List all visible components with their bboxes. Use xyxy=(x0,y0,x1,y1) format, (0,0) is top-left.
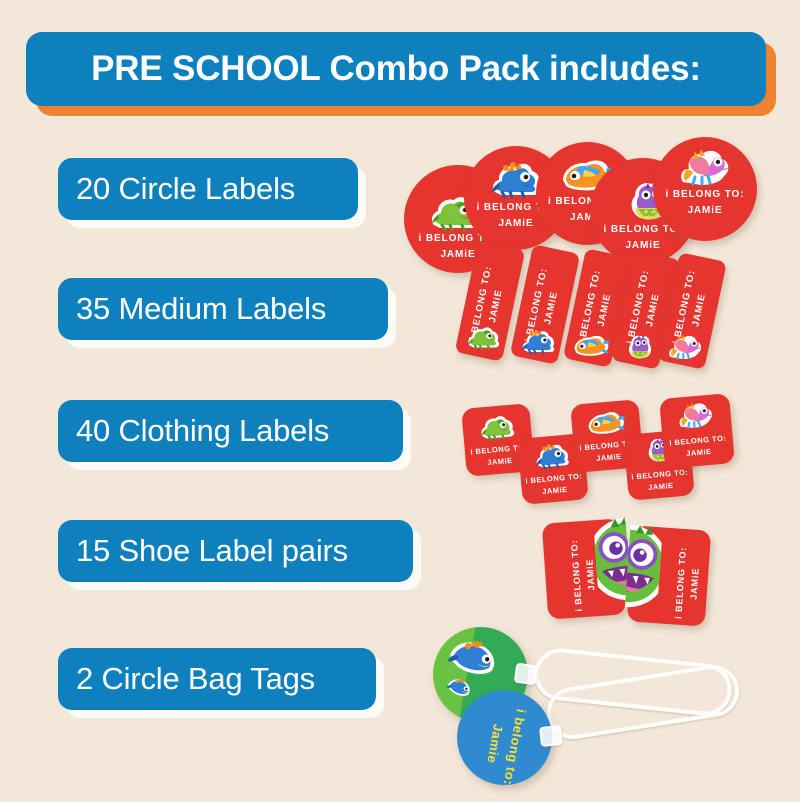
orange-blue-fish-dino-icon xyxy=(584,406,628,438)
list-item-label: 35 Medium Labels xyxy=(58,291,326,327)
circle-label-text: i BELONG TO: JAMiE xyxy=(653,187,757,218)
list-item-label: 20 Circle Labels xyxy=(58,171,295,207)
list-item-shoe-labels: 15 Shoe Label pairs xyxy=(58,520,413,582)
pill-body: 20 Circle Labels xyxy=(58,158,358,220)
owner-name-line: JAMiE xyxy=(686,446,712,457)
purple-hatchling-dino-icon xyxy=(624,333,654,360)
belong-to-line: i BELONG TO: xyxy=(569,539,584,612)
owner-name-line: JAMiE xyxy=(648,480,674,491)
green-trex-dino-icon xyxy=(464,323,502,351)
clothing-label-text: i BELONG TO: JAMiE xyxy=(626,466,694,495)
owner-name-line: JAMiE xyxy=(542,484,568,495)
owner-name-line: Jamie xyxy=(485,723,507,765)
owner-name-line: JAMiE xyxy=(690,293,708,328)
pill-body: 35 Medium Labels xyxy=(58,278,388,340)
bag-tag-grommet xyxy=(539,725,563,747)
pink-pterodactyl-dino-icon xyxy=(666,333,704,360)
list-item-clothing-labels: 40 Clothing Labels xyxy=(58,400,403,462)
bag-tag-blue: i belong to: Jamie xyxy=(457,690,552,785)
blue-stegosaurus-dino-icon xyxy=(519,327,557,355)
green-dino-face-right-icon xyxy=(624,521,663,613)
belong-to-line: i BELONG TO: xyxy=(525,471,583,485)
owner-name-line: JAMiE xyxy=(584,558,596,591)
belong-to-line: i BELONG TO: xyxy=(631,467,689,481)
owner-name-line: JAMiE xyxy=(487,288,505,323)
belong-to-line: i BELONG TO: xyxy=(673,546,688,619)
list-item-medium-labels: 35 Medium Labels xyxy=(58,278,388,340)
shoe-label-text: i BELONG TO: JAMiE xyxy=(671,529,706,637)
owner-name-line: JAMiE xyxy=(687,205,722,216)
owner-name-line: JAMiE xyxy=(688,567,700,600)
owner-name-line: JAMiE xyxy=(595,293,613,328)
list-item-label: 2 Circle Bag Tags xyxy=(58,661,315,697)
blue-dino-small-icon xyxy=(444,673,477,700)
blue-stegosaurus-dino-icon xyxy=(532,439,572,471)
belong-to-line: i belong to: xyxy=(501,708,529,787)
owner-name-line: JAMiE xyxy=(498,218,533,229)
pill-body: 40 Clothing Labels xyxy=(58,400,403,462)
pill-body: 15 Shoe Label pairs xyxy=(58,520,413,582)
list-item-bag-tags: 2 Circle Bag Tags xyxy=(58,648,376,710)
owner-name-line: JAMiE xyxy=(596,451,622,462)
list-item-label: 40 Clothing Labels xyxy=(58,413,329,449)
belong-to-line: i BELONG TO: xyxy=(666,189,745,200)
list-item-circle-labels: 20 Circle Labels xyxy=(58,158,358,220)
pink-pterodactyl-dino-icon xyxy=(674,399,716,430)
list-item-label: 15 Shoe Label pairs xyxy=(58,533,348,569)
header-banner-body: PRE SCHOOL Combo Pack includes: xyxy=(26,32,766,106)
green-trex-dino-icon xyxy=(476,410,518,443)
pill-body: 2 Circle Bag Tags xyxy=(58,648,376,710)
owner-name-line: JAMiE xyxy=(487,455,513,466)
owner-name-line: JAMiE xyxy=(625,240,660,251)
circle-label: i BELONG TO: JAMiE xyxy=(653,137,757,241)
owner-name-line: JAMiE xyxy=(644,293,662,328)
pink-pterodactyl-dino-icon xyxy=(677,147,733,187)
clothing-label: i BELONG TO: JAMiE xyxy=(659,393,735,469)
clothing-label-text: i BELONG TO: JAMiE xyxy=(662,432,734,461)
page-title: PRE SCHOOL Combo Pack includes: xyxy=(91,49,701,89)
owner-name-line: JAMiE xyxy=(542,290,560,325)
promo-graphic: PRE SCHOOL Combo Pack includes: 20 Circl… xyxy=(0,0,800,800)
orange-blue-fish-dino-icon xyxy=(571,331,611,358)
bag-tag-grommet xyxy=(514,663,539,686)
header-banner: PRE SCHOOL Combo Pack includes: xyxy=(26,32,776,116)
belong-to-line: i BELONG TO: xyxy=(669,433,727,447)
bag-tag-text: i belong to: Jamie xyxy=(476,689,533,802)
owner-name-line: JAMiE xyxy=(440,249,475,260)
clothing-label-text: i BELONG TO: JAMiE xyxy=(520,470,588,499)
